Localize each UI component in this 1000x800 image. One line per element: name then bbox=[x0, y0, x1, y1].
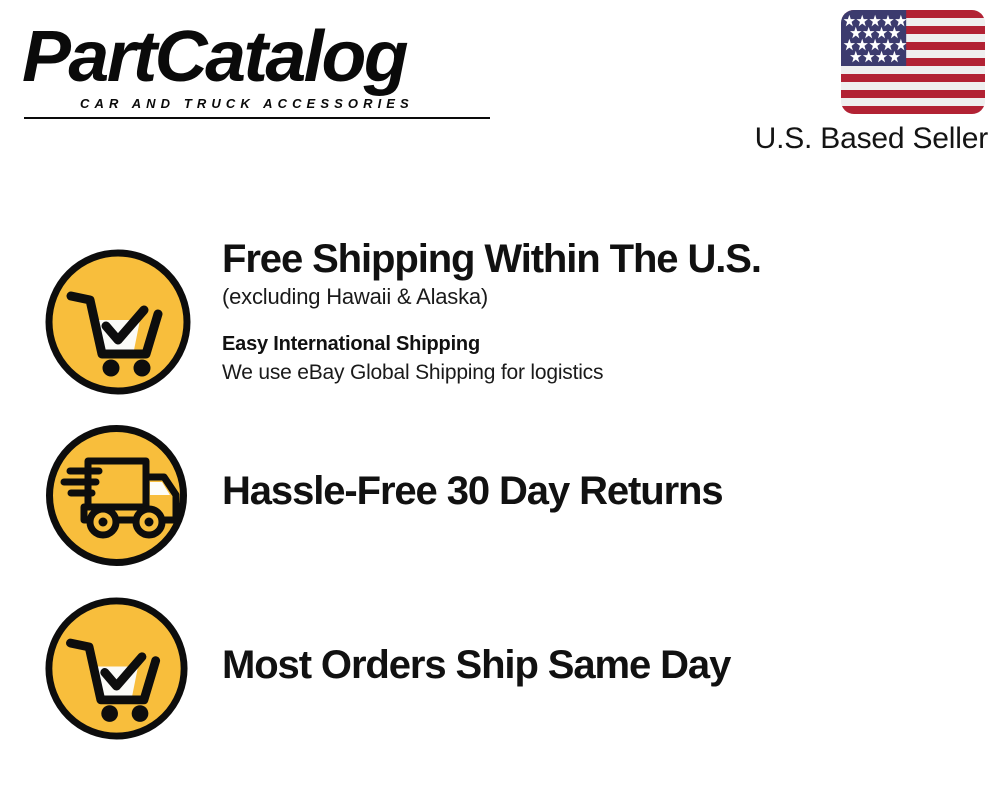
brand-underline bbox=[24, 117, 490, 119]
feature-title: Hassle-Free 30 Day Returns bbox=[222, 468, 982, 514]
feature-subtitle: (excluding Hawaii & Alaska) bbox=[222, 282, 982, 312]
shopping-cart-check-icon bbox=[44, 248, 192, 396]
feature-row-free-shipping: Free Shipping Within The U.S. (excluding… bbox=[0, 236, 1000, 416]
feature-note: We use eBay Global Shipping for logistic… bbox=[222, 358, 982, 387]
delivery-truck-icon bbox=[44, 423, 189, 568]
feature-text-same-day-shipping: Most Orders Ship Same Day bbox=[222, 642, 982, 688]
brand-logo: PartCatalog CAR AND TRUCK ACCESSORIES bbox=[22, 18, 492, 118]
feature-title: Most Orders Ship Same Day bbox=[222, 642, 982, 688]
us-based-seller-label: U.S. Based Seller bbox=[755, 122, 988, 156]
us-flag-icon bbox=[841, 10, 985, 114]
feature-text-free-shipping: Free Shipping Within The U.S. (excluding… bbox=[222, 236, 982, 387]
brand-wordmark: PartCatalog bbox=[22, 18, 501, 96]
feature-subheading: Easy International Shipping bbox=[222, 330, 982, 358]
feature-text-returns: Hassle-Free 30 Day Returns bbox=[222, 468, 982, 514]
brand-tagline: CAR AND TRUCK ACCESSORIES bbox=[80, 96, 414, 111]
us-based-seller-badge: U.S. Based Seller bbox=[698, 8, 988, 158]
promotional-banner: PartCatalog CAR AND TRUCK ACCESSORIES bbox=[0, 0, 1000, 800]
shopping-cart-check-icon bbox=[44, 596, 189, 741]
feature-title: Free Shipping Within The U.S. bbox=[222, 236, 982, 282]
feature-row-returns: Hassle-Free 30 Day Returns bbox=[0, 420, 1000, 570]
feature-row-same-day-shipping: Most Orders Ship Same Day bbox=[0, 594, 1000, 744]
